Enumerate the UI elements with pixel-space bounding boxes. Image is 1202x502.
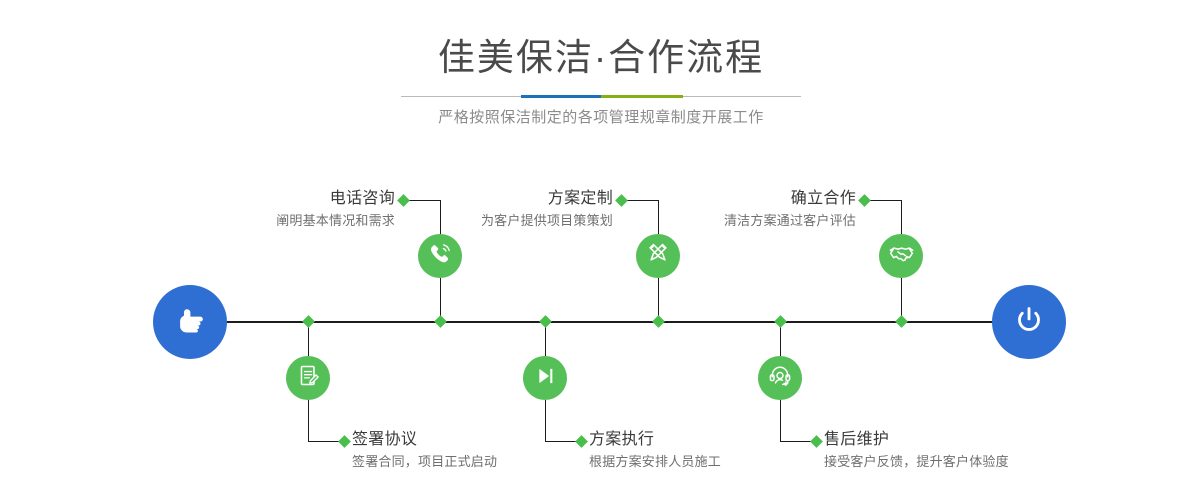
label-marker-sign-agreement — [338, 435, 351, 448]
phone-call-icon — [427, 241, 453, 272]
step-desc-establish-cooperation: 清洁方案通过客户评估 — [525, 212, 856, 230]
power-icon — [1010, 301, 1048, 344]
step-title-after-sales-maintenance: 售后维护 — [824, 430, 1009, 450]
customer-service-icon — [767, 363, 793, 394]
step-icon-sign-agreement[interactable] — [286, 356, 330, 400]
axis-marker-phone-consultation — [434, 315, 447, 328]
step-desc-after-sales-maintenance: 接受客户反馈，提升客户体验度 — [824, 453, 1009, 471]
connector-plan-execution-riser — [545, 400, 546, 441]
step-title-sign-agreement: 签署协议 — [352, 430, 497, 450]
axis-marker-plan-customization — [652, 315, 665, 328]
document-edit-icon — [296, 363, 321, 393]
cooperation-process-infographic: 佳美保洁·合作流程 严格按照保洁制定的各项管理规章制度开展工作 — [0, 0, 1202, 502]
connector-establish-cooperation-arm — [869, 200, 902, 201]
axis-marker-plan-execution — [539, 315, 552, 328]
step-label-plan-execution: 方案执行 根据方案安排人员施工 — [589, 430, 721, 471]
step-icon-plan-execution[interactable] — [523, 356, 567, 400]
step-icon-establish-cooperation[interactable] — [879, 234, 923, 278]
step-icon-phone-consultation[interactable] — [418, 234, 462, 278]
timeline-end-endpoint[interactable] — [992, 285, 1066, 359]
play-skip-icon — [533, 364, 557, 393]
axis-marker-establish-cooperation — [895, 315, 908, 328]
step-icon-after-sales-maintenance[interactable] — [758, 356, 802, 400]
pencil-ruler-icon — [645, 241, 671, 272]
step-title-establish-cooperation: 确立合作 — [525, 189, 856, 209]
step-title-plan-execution: 方案执行 — [589, 430, 721, 450]
step-label-sign-agreement: 签署协议 签署合同，项目正式启动 — [352, 430, 497, 471]
step-label-after-sales-maintenance: 售后维护 接受客户反馈，提升客户体验度 — [824, 430, 1009, 471]
label-marker-after-sales-maintenance — [810, 435, 823, 448]
connector-after-sales-maintenance-riser — [780, 400, 781, 441]
timeline-start-endpoint[interactable] — [153, 285, 227, 359]
step-label-establish-cooperation: 确立合作 清洁方案通过客户评估 — [525, 189, 856, 230]
axis-marker-sign-agreement — [302, 315, 315, 328]
connector-sign-agreement-riser — [308, 400, 309, 441]
connector-establish-cooperation-riser — [901, 200, 902, 234]
handshake-icon — [888, 240, 915, 272]
pointing-hand-icon — [171, 301, 209, 344]
step-desc-sign-agreement: 签署合同，项目正式启动 — [352, 453, 497, 471]
step-icon-plan-customization[interactable] — [636, 234, 680, 278]
process-timeline: 电话咨询 阐明基本情况和需求 签署协议 签署合同，项目正式启动 — [0, 0, 1202, 502]
label-marker-plan-execution — [575, 435, 588, 448]
label-marker-establish-cooperation — [858, 194, 871, 207]
axis-marker-after-sales-maintenance — [774, 315, 787, 328]
step-desc-plan-execution: 根据方案安排人员施工 — [589, 453, 721, 471]
